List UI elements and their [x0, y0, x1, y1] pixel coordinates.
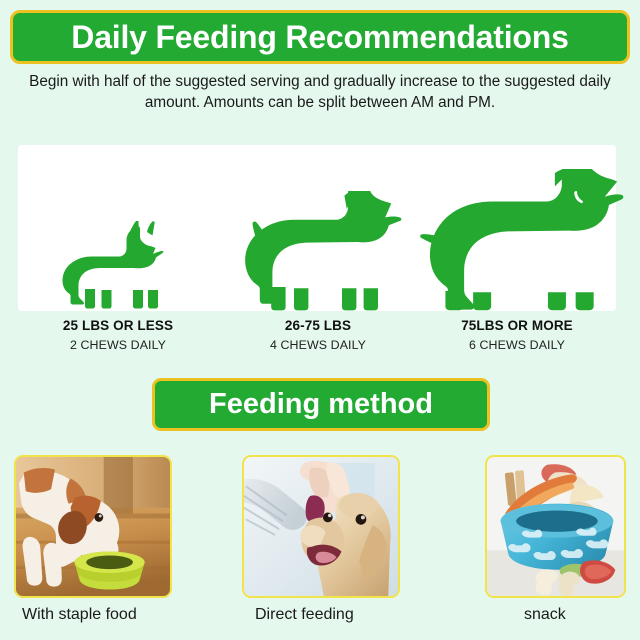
large-dog-silhouette-icon [418, 169, 628, 311]
size-labels-row: 25 LBS OR LESS 2 CHEWS DAILY 26-75 LBS 4… [18, 318, 616, 352]
size-weight-medium: 26-75 LBS [218, 318, 418, 333]
size-label-small: 25 LBS OR LESS 2 CHEWS DAILY [18, 318, 218, 352]
hand-feeding-treat-to-poodle-photo [242, 455, 400, 598]
bowl-of-dog-chews-photo [485, 455, 626, 598]
caption-direct-feeding: Direct feeding [255, 606, 354, 624]
feeding-method-captions: With staple food Direct feeding snack [0, 606, 640, 636]
dog-eating-from-bowl-photo [14, 455, 172, 598]
size-weight-small: 25 LBS OR LESS [18, 318, 218, 333]
feeding-method-banner: Feeding method [152, 378, 490, 431]
small-dog-silhouette-icon [59, 221, 177, 311]
size-amount-small: 2 CHEWS DAILY [18, 338, 218, 352]
intro-paragraph: Begin with half of the suggested serving… [26, 72, 614, 114]
header-banner: Daily Feeding Recommendations [10, 10, 630, 64]
medium-dog-silhouette-icon [234, 191, 402, 311]
caption-snack: snack [524, 606, 566, 624]
large-dog-slot [418, 145, 628, 311]
size-label-large: 75LBS OR MORE 6 CHEWS DAILY [418, 318, 616, 352]
small-dog-slot [18, 145, 218, 311]
medium-dog-slot [218, 145, 418, 311]
size-label-medium: 26-75 LBS 4 CHEWS DAILY [218, 318, 418, 352]
feeding-method-photo-row [0, 455, 640, 600]
feeding-method-title: Feeding method [209, 390, 433, 419]
size-amount-medium: 4 CHEWS DAILY [218, 338, 418, 352]
caption-with-staple-food: With staple food [22, 606, 137, 624]
size-amount-large: 6 CHEWS DAILY [418, 338, 616, 352]
size-weight-large: 75LBS OR MORE [418, 318, 616, 333]
dog-size-silhouette-card [18, 145, 616, 311]
page-title: Daily Feeding Recommendations [71, 21, 568, 53]
